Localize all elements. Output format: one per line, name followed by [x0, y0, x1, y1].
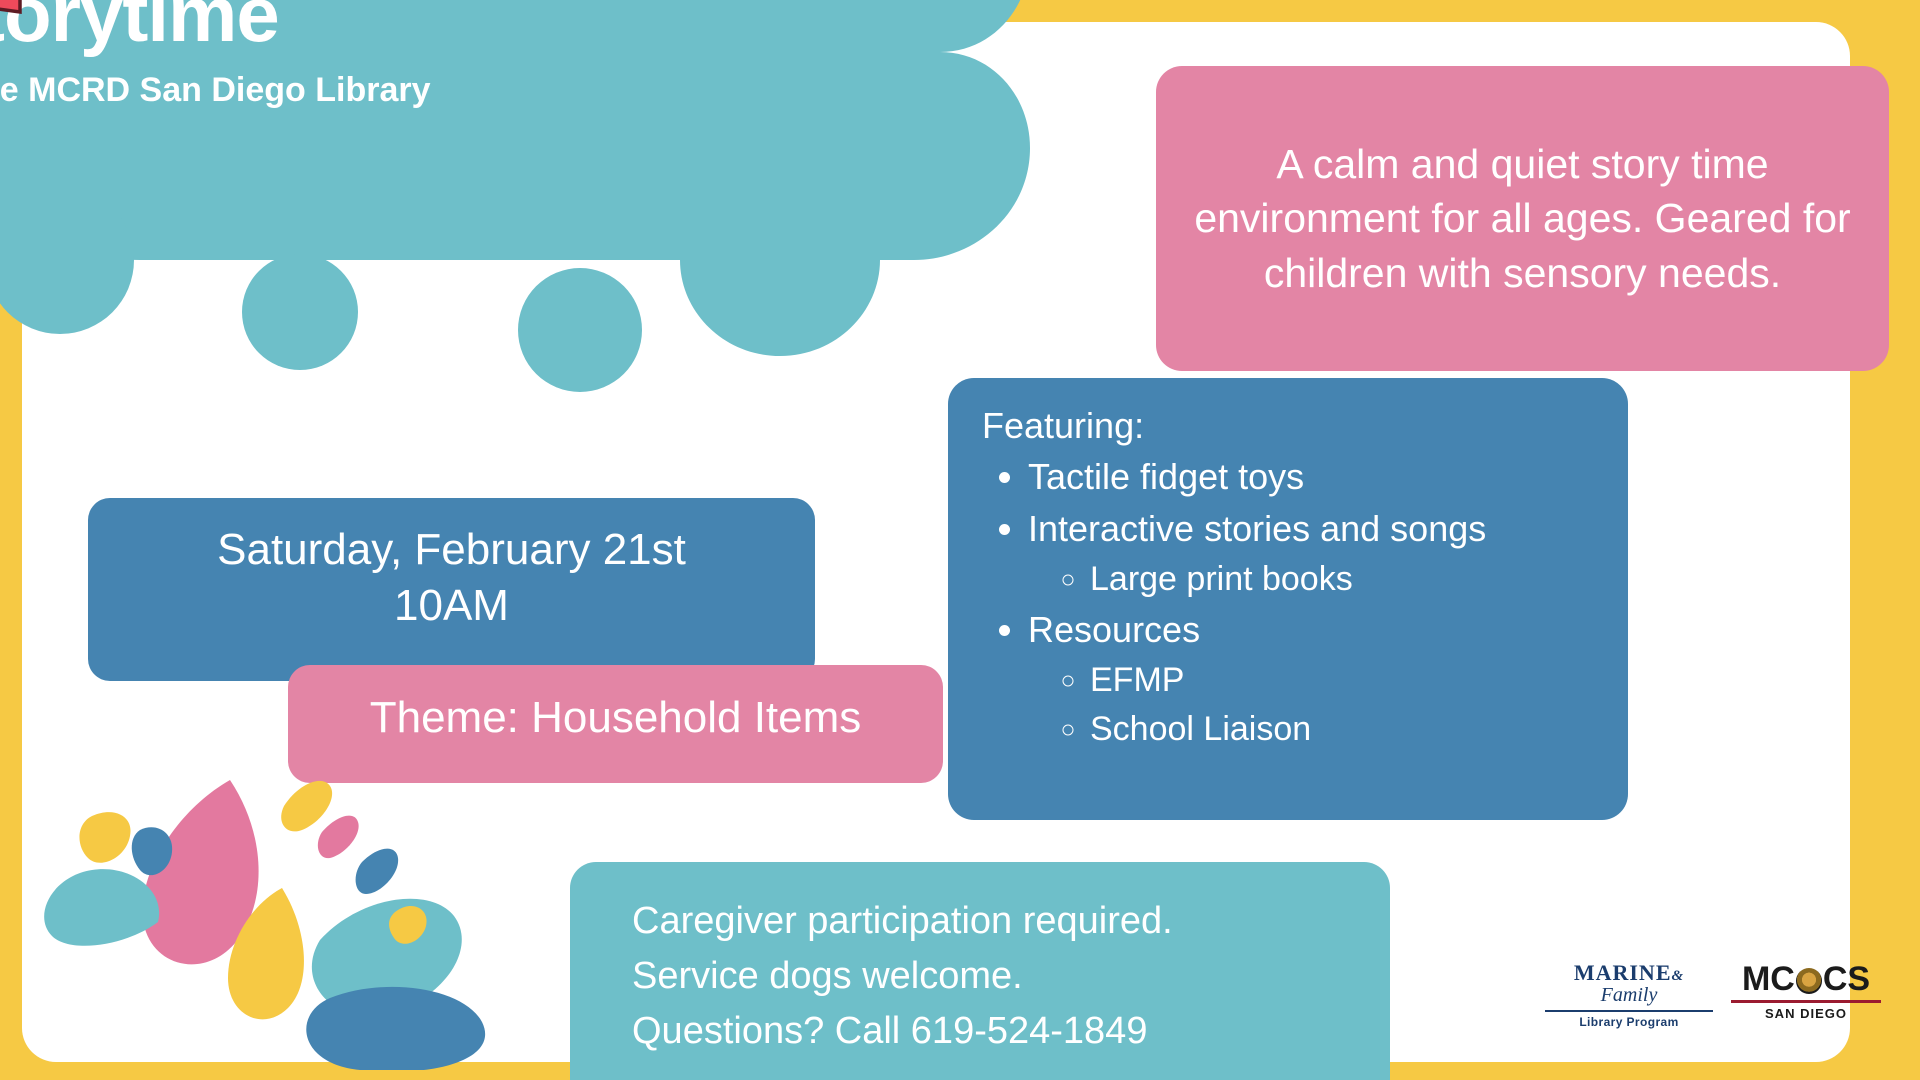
- marine-family-wordmark: MARINE&: [1545, 962, 1713, 984]
- list-item: Tactile fidget toys: [1028, 453, 1602, 501]
- featuring-subitem-label: Large print books: [1090, 560, 1353, 598]
- mccs-wordmark: MC CS: [1731, 962, 1881, 996]
- title-subtitle: at the MCRD San Diego Library: [0, 71, 858, 110]
- mccs-location-label: SAN DIEGO: [1731, 1006, 1881, 1021]
- library-program-label: Library Program: [1545, 1015, 1713, 1029]
- logo-row: MARINE& Family Library Program MC CS SAN…: [1545, 962, 1885, 1042]
- description-box: A calm and quiet story time environment …: [1156, 66, 1889, 371]
- featuring-subitem-label: School Liaison: [1090, 710, 1311, 748]
- event-date-box: Saturday, February 21st 10AM: [88, 498, 815, 681]
- description-text: A calm and quiet story time environment …: [1190, 137, 1855, 301]
- event-time-line: 10AM: [106, 578, 797, 634]
- info-line-2: Service dogs welcome.: [632, 949, 1390, 1004]
- event-theme-box: Theme: Household Items: [288, 665, 943, 783]
- list-item: Large print books: [1090, 557, 1602, 602]
- marine-family-logo: MARINE& Family Library Program: [1545, 962, 1713, 1029]
- paint-splash-icon: [30, 770, 550, 1070]
- marine-word: MARINE: [1574, 960, 1672, 985]
- featuring-sublist: EFMP School Liaison: [1028, 658, 1602, 752]
- divider-rule: [1545, 1010, 1713, 1012]
- featuring-item-label: Tactile fidget toys: [1028, 456, 1304, 497]
- title-line-2: Storytime: [0, 0, 858, 53]
- event-theme-text: Theme: Household Items: [370, 693, 862, 742]
- list-item: EFMP: [1090, 658, 1602, 703]
- featuring-subitem-label: EFMP: [1090, 661, 1184, 699]
- featuring-list: Tactile fidget toys Interactive stories …: [982, 453, 1602, 752]
- list-item: School Liaison: [1090, 707, 1602, 752]
- title-speech-bubble: Sensory Friendly Storytime at the MCRD S…: [0, 0, 1100, 420]
- info-box: Caregiver participation required. Servic…: [570, 862, 1390, 1080]
- event-date-line-1: Saturday, February 21st: [106, 522, 797, 578]
- featuring-sublist: Large print books: [1028, 557, 1602, 602]
- eagle-globe-anchor-icon: [1796, 968, 1822, 994]
- family-word: Family: [1545, 984, 1713, 1007]
- featuring-box: Featuring: Tactile fidget toys Interacti…: [948, 378, 1628, 820]
- featuring-item-label: Interactive stories and songs: [1028, 508, 1486, 549]
- featuring-item-label: Resources: [1028, 609, 1200, 650]
- mccs-logo: MC CS SAN DIEGO: [1731, 962, 1881, 1021]
- featuring-heading: Featuring:: [982, 404, 1602, 447]
- mccs-left-letters: MC: [1742, 962, 1795, 996]
- mccs-right-letters: CS: [1823, 962, 1870, 996]
- list-item: Resources EFMP School Liaison: [1028, 606, 1602, 752]
- flyer-poster: Sensory Friendly Storytime at the MCRD S…: [0, 0, 1920, 1080]
- divider-rule: [1731, 1000, 1881, 1003]
- list-item: Interactive stories and songs Large prin…: [1028, 505, 1602, 602]
- title-block: Sensory Friendly Storytime at the MCRD S…: [0, 0, 858, 110]
- heart-reading-book-icon: [0, 0, 70, 35]
- info-line-3: Questions? Call 619-524-1849: [632, 1004, 1390, 1059]
- ampersand-glyph: &: [1672, 968, 1685, 984]
- info-line-1: Caregiver participation required.: [632, 894, 1390, 949]
